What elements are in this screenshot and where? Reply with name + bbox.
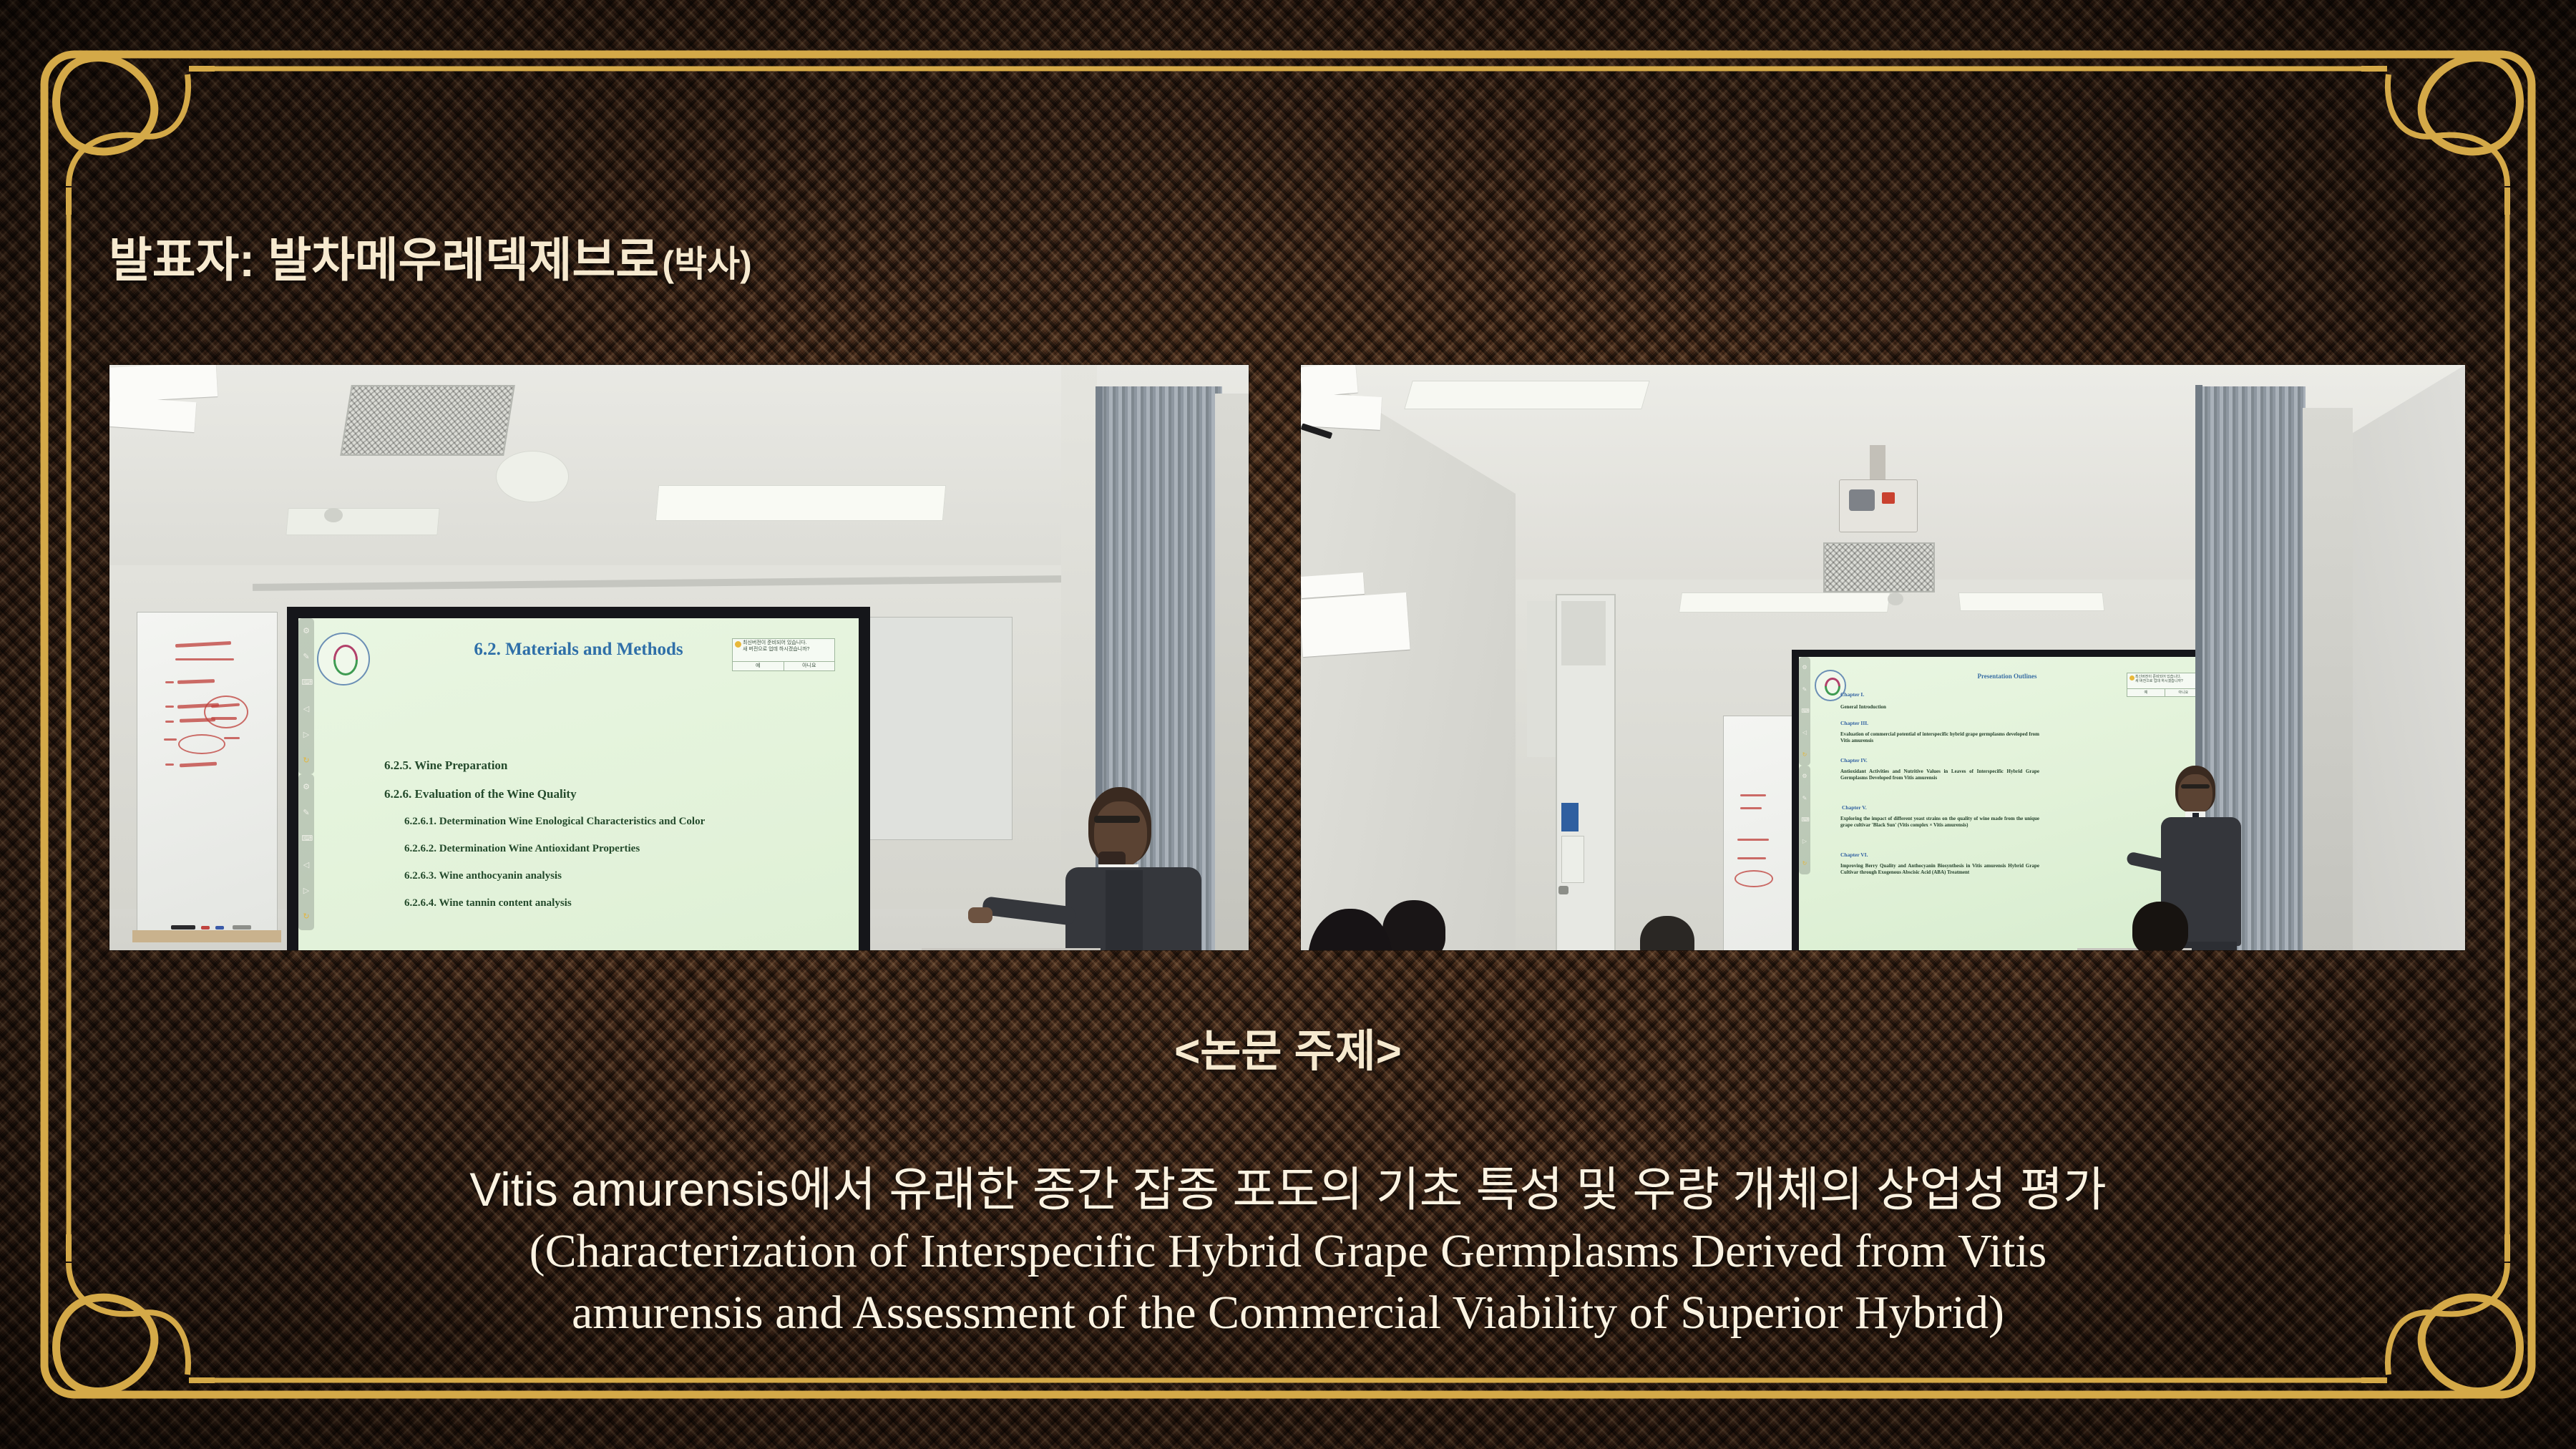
presentation-slide: 발표자: 발차메우레덱제브로 (박사)	[0, 0, 2576, 1449]
settings-icon[interactable]: ⚙	[301, 628, 311, 635]
slide-body-line-5: 6.2.6.3. Wine anthocyanin analysis	[404, 870, 562, 882]
seated-attendee-darkleft	[1301, 909, 1423, 950]
prev-icon[interactable]: ◁	[301, 862, 311, 869]
seated-attendee-grey	[2102, 902, 2217, 950]
settings-icon[interactable]: ⚙	[1801, 665, 1808, 670]
pen-icon[interactable]: ✎	[1801, 796, 1808, 801]
dialog-no-button[interactable]: 아니요	[784, 662, 835, 670]
outline-chapter-2: Chapter III.	[1840, 720, 1868, 726]
slide-body-line-3: 6.2.6.1. Determination Wine Enological C…	[404, 816, 705, 828]
dialog-line-2: 새 버전으로 업데 하시겠습니까?	[2135, 679, 2200, 683]
outline-text-1: General Introduction	[1840, 704, 2039, 711]
update-dialog-message: 최신버전이 준비되어 있습니다. 새 버전으로 업데 하시겠습니까?	[2127, 673, 2202, 685]
next-icon[interactable]: ▷	[301, 731, 311, 739]
dialog-line-1: 최신버전이 준비되어 있습니다.	[743, 640, 832, 647]
refresh-icon[interactable]: ↻	[1801, 861, 1808, 867]
thesis-title-line-3: amurensis and Assessment of the Commerci…	[86, 1282, 2490, 1344]
slide-body-line-4: 6.2.6.2. Determination Wine Antioxidant …	[404, 843, 640, 855]
subject-header: <논문 주제>	[0, 1015, 2576, 1079]
pen-icon[interactable]: ✎	[301, 809, 311, 817]
refresh-icon[interactable]: ↻	[1801, 752, 1808, 758]
keyboard-icon[interactable]: ⌨	[301, 679, 311, 687]
screen-toolbar-right[interactable]: ⚙ ✎ ⌨ ▷ ↻	[1799, 766, 1810, 874]
pen-icon[interactable]: ✎	[1801, 687, 1808, 693]
settings-icon[interactable]: ⚙	[301, 784, 311, 791]
prev-icon[interactable]: ◁	[1801, 730, 1808, 736]
outline-chapter-4: Chapter V.	[1842, 804, 1867, 811]
thesis-title-line-2: (Characterization of Interspecific Hybri…	[86, 1221, 2490, 1282]
settings-icon[interactable]: ⚙	[1801, 774, 1808, 779]
next-icon[interactable]: ▷	[301, 887, 311, 895]
outline-text-2: Evaluation of commercial potential of in…	[1840, 731, 2039, 744]
prev-icon[interactable]: ◁	[301, 706, 311, 713]
outline-text-4: Exploring the impact of different yeast …	[1840, 816, 2039, 829]
keyboard-icon[interactable]: ⌨	[1801, 708, 1808, 714]
photo-room-wide: Presentation Outlines 최신버전이 준비되어 있습니다. 새…	[1301, 365, 2465, 950]
slide-body-line-6: 6.2.6.4. Wine tannin content analysis	[404, 897, 572, 909]
outline-text-5: Improving Berry Quality and Anthocyanin …	[1840, 863, 2039, 876]
presenter-degree: (박사)	[662, 244, 751, 284]
thesis-title-line-1: Vitis amurensis에서 유래한 종간 잡종 포도의 기초 특성 및 …	[86, 1159, 2490, 1221]
update-dialog: 최신버전이 준비되어 있습니다. 새 버전으로 업데 하시겠습니까? 예 아니요	[2127, 673, 2202, 697]
screen-toolbar-right[interactable]: ⚙ ✎ ⌨ ◁ ▷ ↻	[298, 774, 314, 930]
dialog-yes-button[interactable]: 예	[2127, 689, 2165, 696]
thesis-title: Vitis amurensis에서 유래한 종간 잡종 포도의 기초 특성 및 …	[86, 1159, 2490, 1343]
refresh-icon[interactable]: ↻	[301, 757, 311, 765]
keyboard-icon[interactable]: ⌨	[1801, 817, 1808, 823]
dialog-yes-button[interactable]: 예	[733, 662, 784, 670]
dialog-line-2: 새 버전으로 업데 하시겠습니까?	[743, 647, 832, 653]
prev-icon[interactable]: ▷	[1801, 839, 1808, 844]
outline-text-3: Antioxidant Activities and Nutritive Val…	[1840, 769, 2039, 781]
photo-presenter-closeup: 6.2. Materials and Methods 최신버전이 준비되어 있습…	[109, 365, 1249, 950]
seated-attendee-midleft	[1609, 916, 1727, 950]
refresh-icon[interactable]: ↻	[301, 913, 311, 921]
outline-chapter-3: Chapter IV.	[1840, 757, 1868, 763]
keyboard-icon[interactable]: ⌨	[301, 835, 311, 843]
presenter-line: 발표자: 발차메우레덱제브로 (박사)	[109, 222, 1540, 291]
warning-icon	[735, 641, 741, 648]
update-dialog: 최신버전이 준비되어 있습니다. 새 버전으로 업데 하시겠습니까? 예 아니요	[732, 638, 835, 671]
warning-icon	[2129, 675, 2135, 680]
outline-chapter-5: Chapter VI.	[1840, 852, 1868, 858]
update-dialog-message: 최신버전이 준비되어 있습니다. 새 버전으로 업데 하시겠습니까?	[733, 639, 834, 654]
slide-body-line-2: 6.2.6. Evaluation of the Wine Quality	[384, 787, 577, 801]
projection-screen: 6.2. Materials and Methods 최신버전이 준비되어 있습…	[298, 618, 859, 950]
presenter-name: 발표자: 발차메우레덱제브로	[109, 233, 659, 286]
outline-chapter-1: Chapter I.	[1840, 691, 1864, 698]
slide-body-line-1: 6.2.5. Wine Preparation	[384, 758, 507, 773]
presenter-figure	[1061, 787, 1226, 950]
